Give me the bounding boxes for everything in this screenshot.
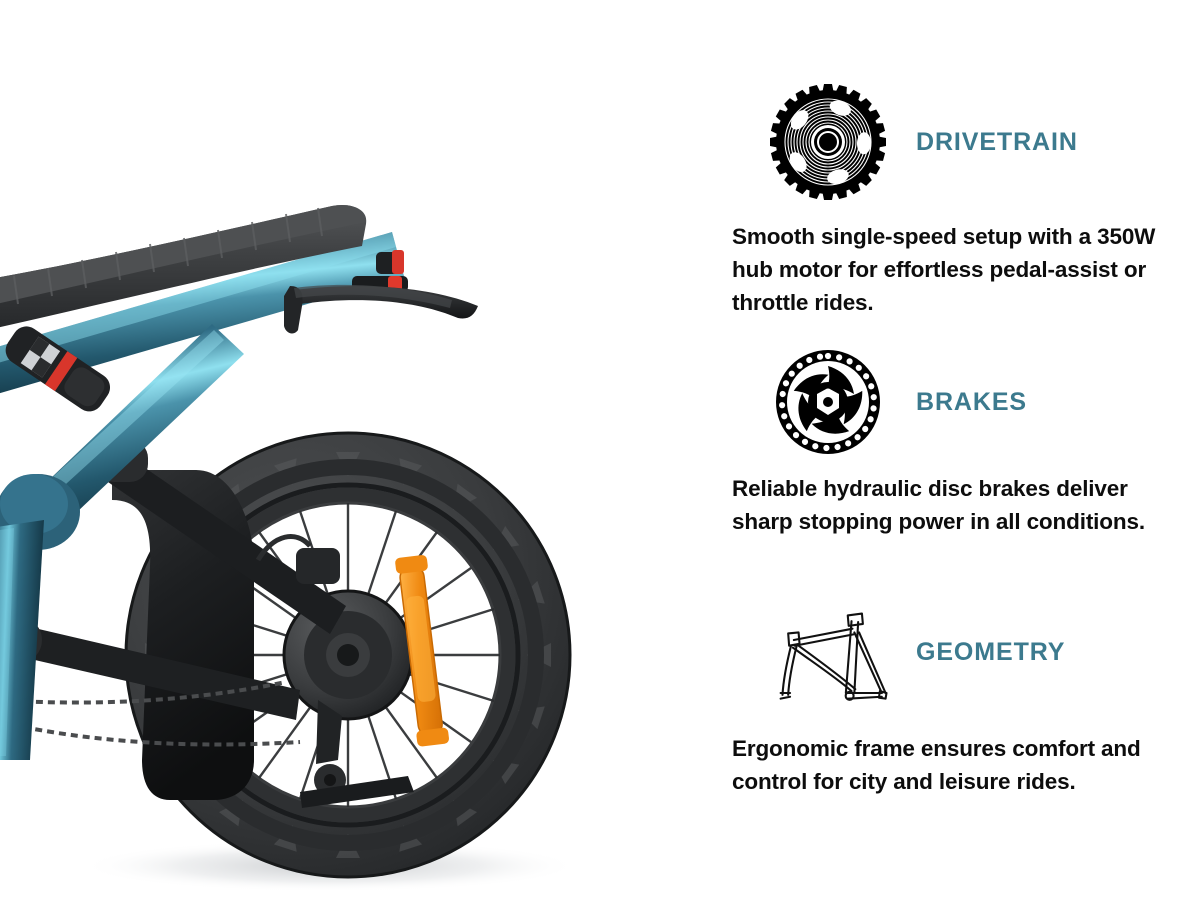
- feature-title-brakes: BRAKES: [916, 342, 1027, 462]
- bicycle-frame-icon: [758, 606, 894, 710]
- feature-header-brakes: BRAKES: [720, 342, 1200, 462]
- feature-list-panel: DRIVETRAIN Smooth single-speed setup wit…: [720, 0, 1200, 900]
- feature-body-brakes: Reliable hydraulic disc brakes deliver s…: [732, 472, 1184, 538]
- feature-block-drivetrain: DRIVETRAIN Smooth single-speed setup wit…: [720, 82, 1200, 202]
- feature-header-geometry: GEOMETRY: [720, 592, 1200, 712]
- electric-bike-illustration: [0, 0, 720, 900]
- disc-brake-rotor-icon: [768, 342, 888, 462]
- infographic-page: DRIVETRAIN Smooth single-speed setup wit…: [0, 0, 1200, 900]
- feature-body-drivetrain: Smooth single-speed setup with a 350W hu…: [732, 220, 1184, 319]
- feature-block-brakes: BRAKES Reliable hydraulic disc brakes de…: [720, 342, 1200, 462]
- feature-title-geometry: GEOMETRY: [916, 592, 1065, 712]
- feature-block-geometry: GEOMETRY Ergonomic frame ensures comfort…: [720, 592, 1200, 712]
- bicycle-cassette-icon: [768, 82, 888, 202]
- feature-header-drivetrain: DRIVETRAIN: [720, 82, 1200, 202]
- product-image-panel: [0, 0, 720, 900]
- feature-title-drivetrain: DRIVETRAIN: [916, 82, 1078, 202]
- feature-body-geometry: Ergonomic frame ensures comfort and cont…: [732, 732, 1184, 798]
